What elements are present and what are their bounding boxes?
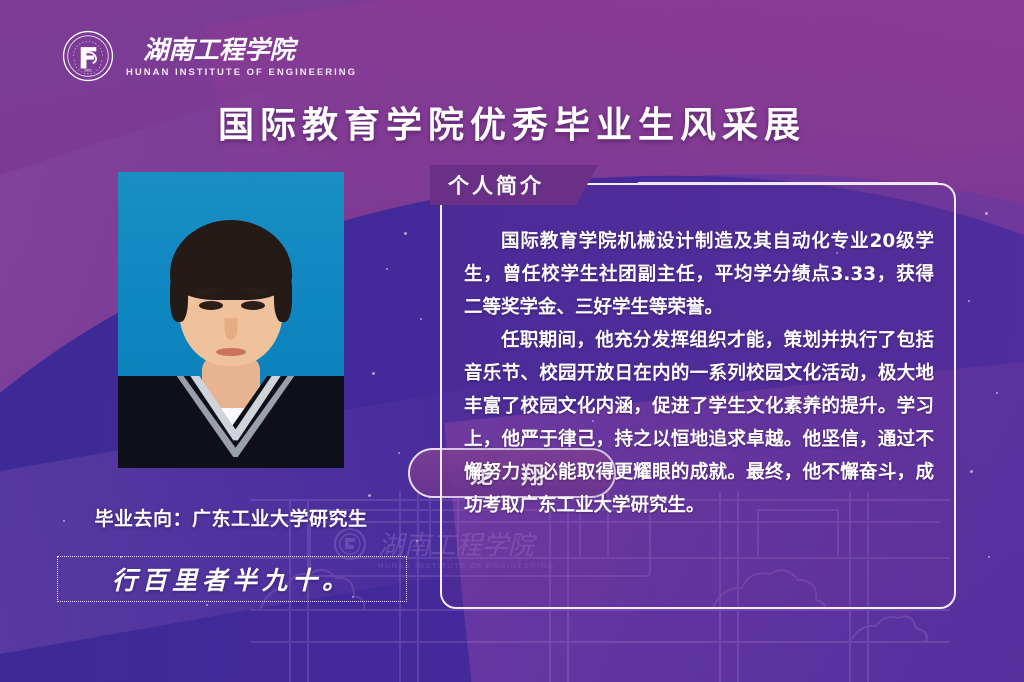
motto-box: 行百里者半九十。	[57, 556, 407, 602]
profile-header-banner: 个人简介	[430, 165, 598, 205]
profile-header-label: 个人简介	[448, 170, 544, 200]
motto-text: 行百里者半九十。	[112, 561, 352, 597]
brand-lockup: 1951 湖南工程学院 HUNAN INSTITUTE OF ENGINEERI…	[62, 30, 357, 82]
student-photo-image	[118, 172, 344, 468]
profile-body: 国际教育学院机械设计制造及其自动化专业20级学生，曾任校学生社团副主任，平均学分…	[464, 225, 934, 522]
profile-paragraph: 国际教育学院机械设计制造及其自动化专业20级学生，曾任校学生社团副主任，平均学分…	[464, 225, 934, 324]
hunan-institute-of-engineering-seal-icon: 1951	[62, 30, 114, 82]
graduate-showcase-poster: 湖南工程学院 HUNAN INSTITUTE OF ENGINEERING 19…	[0, 0, 1024, 682]
brand-name-cn: 湖南工程学院	[126, 34, 357, 64]
svg-text:1951: 1951	[84, 69, 92, 73]
page-title: 国际教育学院优秀毕业生风采展	[0, 96, 1024, 148]
graduation-destination: 毕业去向：广东工业大学研究生	[0, 504, 462, 531]
profile-card: 个人简介 国际教育学院机械设计制造及其自动化专业20级学生，曾任校学生社团副主任…	[440, 183, 956, 609]
student-photo	[118, 172, 344, 468]
profile-paragraph: 任职期间，他充分发挥组织才能，策划并执行了包括音乐节、校园开放日在内的一系列校园…	[464, 324, 934, 522]
svg-text:湖南工程学院: 湖南工程学院	[143, 34, 299, 64]
profile-header-rule	[638, 182, 938, 184]
brand-name-en: HUNAN INSTITUTE OF ENGINEERING	[126, 67, 357, 78]
